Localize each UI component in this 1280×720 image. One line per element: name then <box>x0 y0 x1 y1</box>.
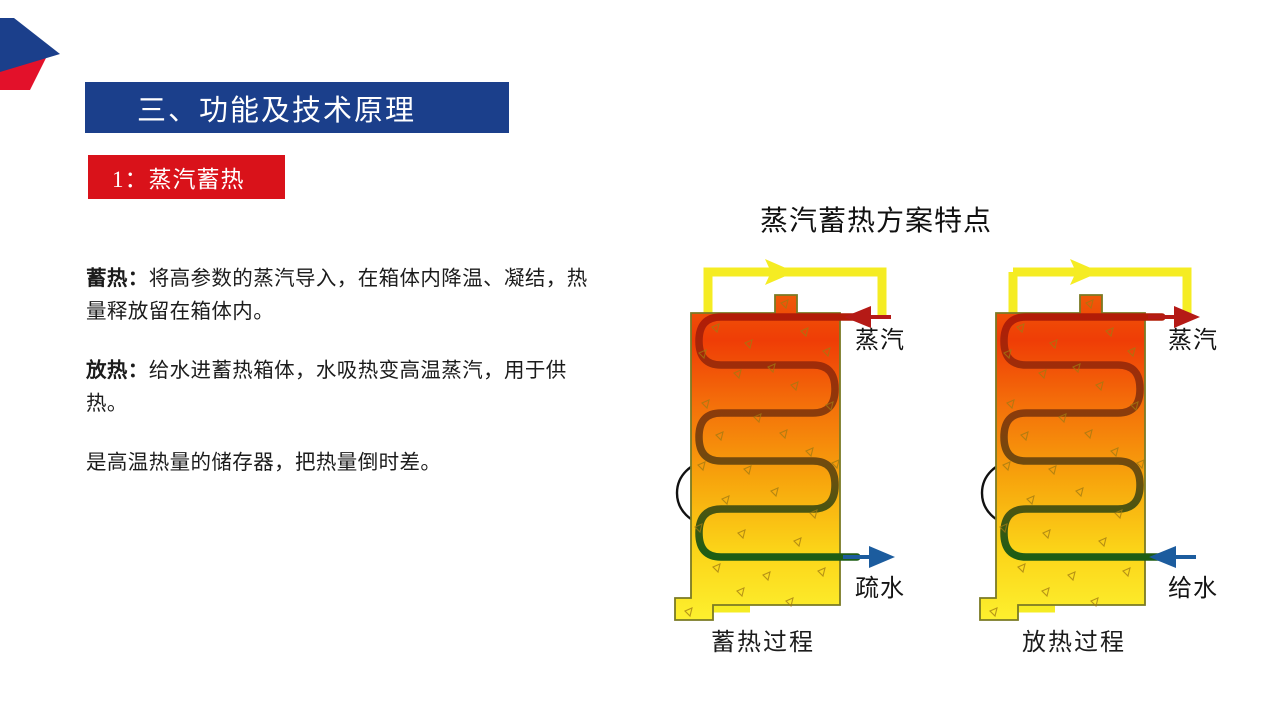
paragraph-charge-lead: 蓄热： <box>86 268 149 290</box>
feedwater-port-arrow-discharge <box>1149 546 1196 568</box>
label-charge-process: 蓄热过程 <box>711 622 815 657</box>
paragraph-charge: 蓄热：将高参数的蒸汽导入，在箱体内降温、凝结，热量释放留在箱体内。 <box>86 263 598 329</box>
label-steam-discharge: 蒸汽 <box>1168 320 1218 355</box>
section-header-bar: 三、功能及技术原理 <box>85 82 509 133</box>
diagram-title: 蒸汽蓄热方案特点 <box>760 199 992 239</box>
corner-logo <box>0 10 80 105</box>
paragraph-discharge: 放热：给水进蓄热箱体，水吸热变高温蒸汽，用于供热。 <box>86 355 598 421</box>
paragraph-charge-text: 将高参数的蒸汽导入，在箱体内降温、凝结，热量释放留在箱体内。 <box>86 268 588 323</box>
section-header-title: 三、功能及技术原理 <box>137 87 416 129</box>
subsection-badge: 1：蒸汽蓄热 <box>88 155 285 199</box>
label-steam-charge: 蒸汽 <box>855 320 905 355</box>
label-feedwater-discharge: 给水 <box>1168 568 1218 603</box>
subsection-badge-label: 1：蒸汽蓄热 <box>112 160 245 194</box>
label-discharge-process: 放热过程 <box>1022 622 1126 657</box>
paragraph-summary-text: 是高温热量的储存器，把热量倒时差。 <box>86 452 441 474</box>
paragraph-summary: 是高温热量的储存器，把热量倒时差。 <box>86 447 598 480</box>
drain-port-arrow-charge <box>843 546 895 568</box>
paragraph-discharge-lead: 放热： <box>86 360 149 382</box>
label-drain-charge: 疏水 <box>855 568 905 603</box>
body-text-block: 蓄热：将高参数的蒸汽导入，在箱体内降温、凝结，热量释放留在箱体内。 放热：给水进… <box>86 263 598 490</box>
paragraph-discharge-text: 给水进蓄热箱体，水吸热变高温蒸汽，用于供热。 <box>86 360 567 415</box>
